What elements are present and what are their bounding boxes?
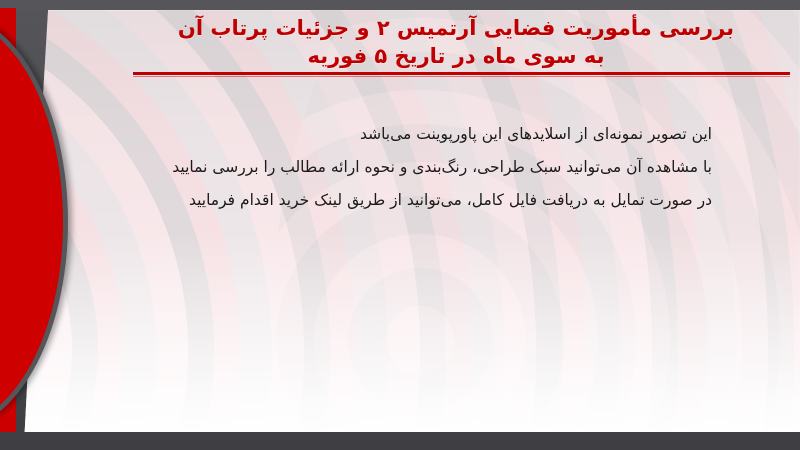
slide-title: بررسی مأموریت فضایی آرتمیس ۲ و جزئیات پر…: [120, 14, 792, 70]
title-underline: [133, 72, 790, 75]
slide-body-text: این تصویر نمونه‌ای از اسلایدهای این پاور…: [92, 118, 712, 217]
title-line-2: به سوی ماه در تاریخ ۵ فوریه: [120, 42, 792, 70]
title-underline-secondary: [133, 76, 790, 77]
background-bottom-fade: [20, 232, 800, 432]
title-line-1: بررسی مأموریت فضایی آرتمیس ۲ و جزئیات پر…: [120, 14, 792, 42]
body-line-1: این تصویر نمونه‌ای از اسلایدهای این پاور…: [92, 118, 712, 151]
body-line-2: با مشاهده آن می‌توانید سبک طراحی، رنگ‌بن…: [92, 151, 712, 184]
presentation-slide: بررسی مأموریت فضایی آرتمیس ۲ و جزئیات پر…: [0, 0, 800, 450]
red-ellipse-graphic: [0, 13, 68, 431]
body-line-3: در صورت تمایل به دریافت فایل کامل، می‌تو…: [92, 184, 712, 217]
red-ellipse-shape: [0, 13, 68, 431]
